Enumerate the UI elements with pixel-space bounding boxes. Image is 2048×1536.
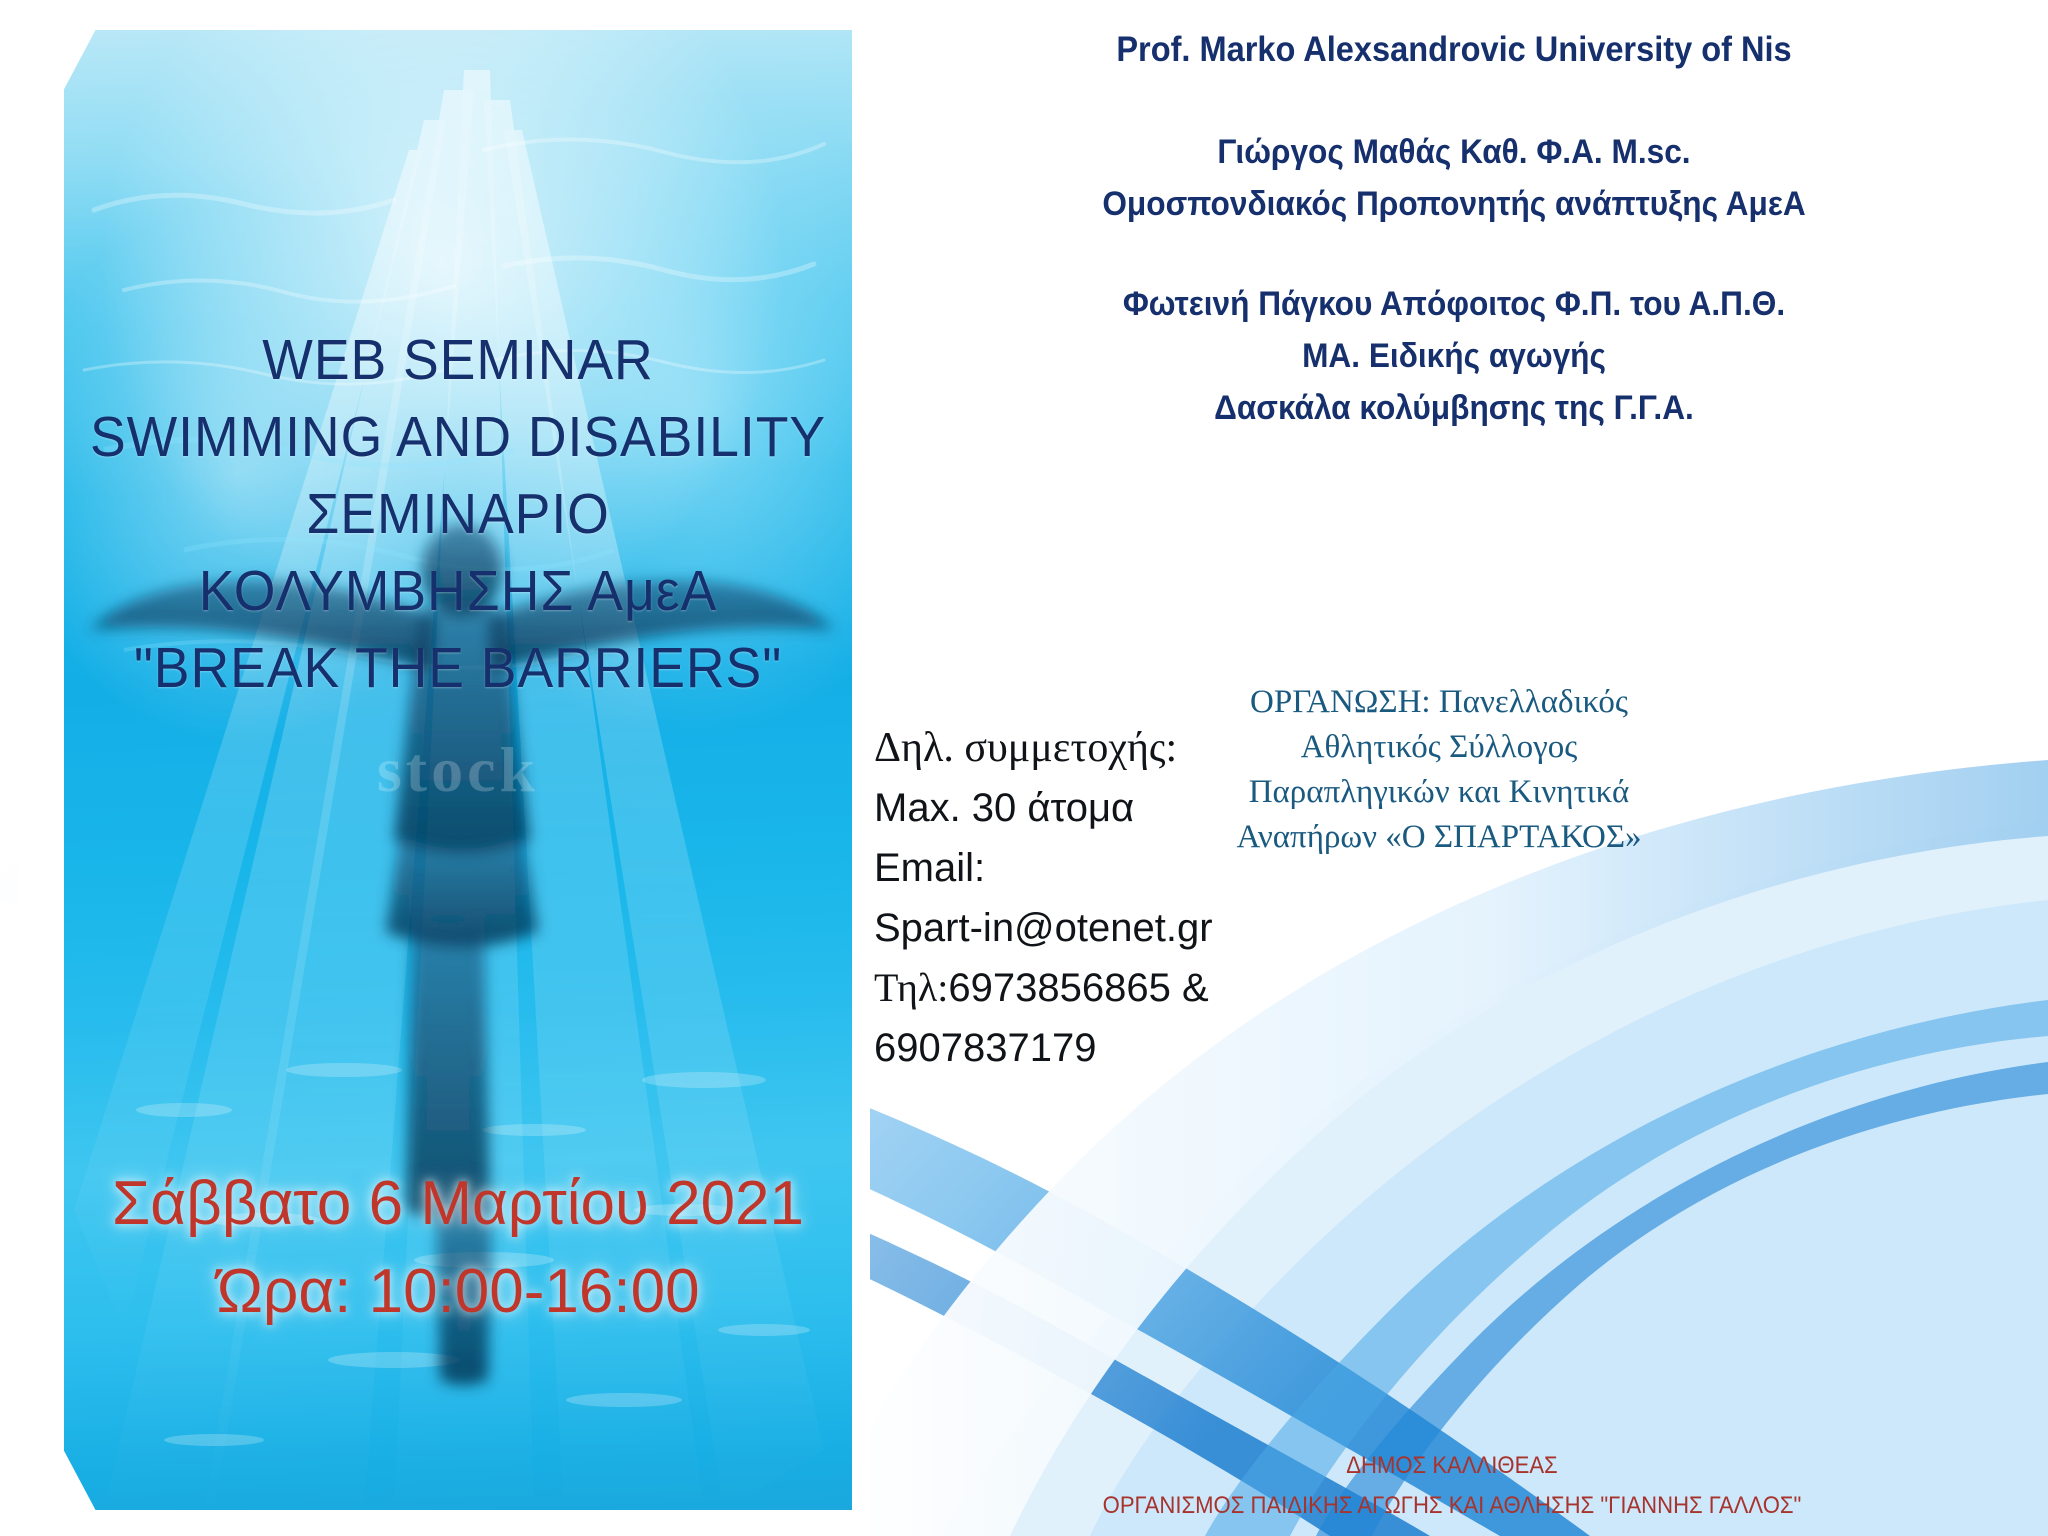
footer-organizations: ΔΗΜΟΣ ΚΑΛΛΙΘΕΑΣ ΟΡΓΑΝΙΣΜΟΣ ΠΑΙΔΙΚΗΣ ΑΓΩΓ… xyxy=(913,1446,1991,1526)
phone-line-1: Τηλ:6973856865 & xyxy=(874,958,1304,1018)
email-label: Email: xyxy=(874,838,1304,898)
phone-label: Τηλ: xyxy=(874,965,948,1010)
underwater-photo: stock WEB SEMINAR SWIMMING AND DISABILIT… xyxy=(64,30,852,1510)
poster-date-time: Σάββατο 6 Μαρτίου 2021 Ώρα: 10:00-16:00 xyxy=(64,1160,852,1336)
speaker-1: Prof. Marko Alexsandrovic University of … xyxy=(907,24,2001,76)
phone-number-1[interactable]: 6973856865 & xyxy=(948,966,1208,1010)
registration-info: Δηλ. συμμετοχής: Max. 30 άτομα Email: Sp… xyxy=(874,718,1304,1078)
speaker-2: Γιώργος Μαθάς Καθ. Φ.Α. M.sc. Ομοσπονδια… xyxy=(907,126,2001,230)
email-address[interactable]: Spart-in@otenet.gr xyxy=(874,898,1304,958)
poster-title: WEB SEMINAR SWIMMING AND DISABILITY ΣΕΜΙ… xyxy=(88,322,829,707)
registration-capacity: Max. 30 άτομα xyxy=(874,778,1304,838)
registration-label: Δηλ. συμμετοχής: xyxy=(874,718,1304,778)
seminar-poster-image: stock WEB SEMINAR SWIMMING AND DISABILIT… xyxy=(18,2,870,1536)
poster-frame: stock WEB SEMINAR SWIMMING AND DISABILIT… xyxy=(18,2,870,1536)
details-column: Prof. Marko Alexsandrovic University of … xyxy=(866,0,2048,1536)
phone-number-2[interactable]: 6907837179 xyxy=(874,1018,1304,1078)
speaker-3: Φωτεινή Πάγκου Απόφοιτος Φ.Π. του Α.Π.Θ.… xyxy=(907,278,2001,434)
